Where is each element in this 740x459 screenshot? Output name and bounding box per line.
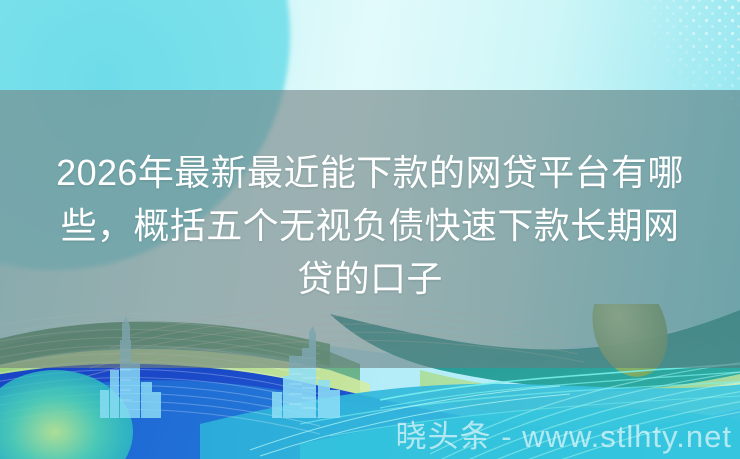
page-title: 2026年最新最近能下款的网贷平台有哪些，概括五个无视负债快速下款长期网贷的口子	[46, 146, 694, 305]
banner-image: 2026年最新最近能下款的网贷平台有哪些，概括五个无视负债快速下款长期网贷的口子…	[0, 0, 740, 459]
title-block: 2026年最新最近能下款的网贷平台有哪些，概括五个无视负债快速下款长期网贷的口子	[0, 146, 740, 305]
